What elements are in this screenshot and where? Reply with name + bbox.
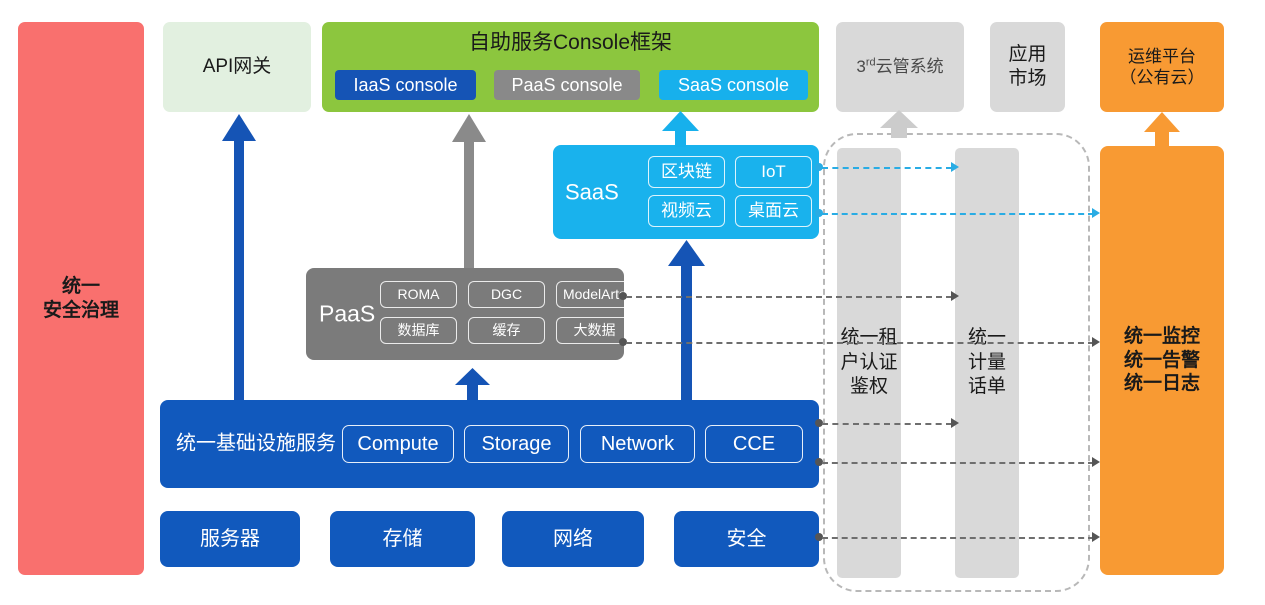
saas-layer-box[interactable]: SaaS 区块链 IoT 视频云 桌面云 — [553, 145, 819, 239]
arrow-iaas-to-saas — [668, 240, 705, 400]
saas-item-blockchain[interactable]: 区块链 — [648, 156, 725, 188]
tenant-auth-line-2: 户认证 — [840, 351, 897, 376]
arrow-iaas-to-api-gateway — [222, 114, 256, 400]
iaas-item-network[interactable]: Network — [580, 425, 695, 463]
ops-platform-line-1: 运维平台 — [1120, 46, 1205, 67]
paas-layer-box[interactable]: PaaS ROMA DGC ModelArts 数据库 缓存 大数据 — [306, 268, 624, 360]
paas-item-database[interactable]: 数据库 — [380, 317, 457, 344]
arrow-saas-to-saas-console — [662, 111, 699, 147]
ops-side-line-1: 统一监控 — [1124, 325, 1200, 349]
connector-arrowhead-paas-auth — [951, 291, 959, 301]
iaas-item-cce[interactable]: CCE — [705, 425, 803, 463]
hardware-network-box[interactable]: 网络 — [502, 511, 644, 567]
paas-console-chip[interactable]: PaaS console — [494, 70, 640, 100]
hardware-security-box[interactable]: 安全 — [674, 511, 819, 567]
app-market-line-1: 应用 — [1008, 43, 1046, 67]
ops-platform-public-cloud-box[interactable]: 运维平台 （公有云） — [1100, 22, 1224, 112]
ops-platform-line-2: （公有云） — [1120, 67, 1205, 88]
security-line-1: 统一 — [43, 275, 119, 299]
metering-line-2: 计量 — [968, 351, 1006, 376]
connector-iaas-to-ops — [822, 462, 1094, 464]
tenant-auth-line-1: 统一租 — [840, 326, 897, 351]
tenant-auth-line-3: 鉴权 — [840, 375, 897, 400]
connector-paas-to-ops — [626, 342, 1094, 344]
paas-label: PaaS — [319, 300, 375, 329]
metering-line-1: 统一 — [968, 326, 1006, 351]
api-gateway-box[interactable]: API网关 — [163, 22, 311, 112]
app-market-box[interactable]: 应用 市场 — [990, 22, 1065, 112]
connector-saas-to-metering — [822, 167, 952, 169]
hardware-server-box[interactable]: 服务器 — [160, 511, 300, 567]
connector-arrowhead-iaas-ops — [1092, 457, 1100, 467]
connector-saas-to-ops — [822, 213, 1094, 215]
hardware-storage-box[interactable]: 存储 — [330, 511, 475, 567]
paas-item-roma[interactable]: ROMA — [380, 281, 457, 308]
third-cloud-label: 3rd云管系统 — [856, 56, 943, 77]
unified-security-governance-panel[interactable]: 统一 安全治理 — [18, 22, 144, 575]
connector-arrowhead-hardware-ops — [1092, 532, 1100, 542]
api-gateway-label: API网关 — [203, 55, 272, 79]
connector-arrowhead-iaas-auth — [951, 418, 959, 428]
saas-console-chip[interactable]: SaaS console — [659, 70, 808, 100]
paas-item-dgc[interactable]: DGC — [468, 281, 545, 308]
connector-paas-to-auth — [626, 296, 952, 298]
self-service-console-framework[interactable]: 自助服务Console框架 IaaS console PaaS console … — [322, 22, 819, 112]
saas-item-video-cloud[interactable]: 视频云 — [648, 195, 725, 227]
connector-arrowhead-saas-ops — [1092, 208, 1100, 218]
ops-side-line-2: 统一告警 — [1124, 349, 1200, 373]
unified-monitoring-panel[interactable]: 统一监控 统一告警 统一日志 — [1100, 146, 1224, 575]
arrow-paas-to-console — [452, 114, 486, 268]
console-framework-title: 自助服务Console框架 — [322, 30, 819, 56]
connector-arrowhead-saas-metering — [951, 162, 959, 172]
arrow-ops-panel-to-ops-platform — [1144, 112, 1180, 146]
iaas-console-chip[interactable]: IaaS console — [335, 70, 476, 100]
arrow-iaas-to-paas — [455, 368, 490, 400]
ops-side-line-3: 统一日志 — [1124, 372, 1200, 396]
saas-label: SaaS — [565, 178, 619, 206]
paas-item-cache[interactable]: 缓存 — [468, 317, 545, 344]
connector-hardware-to-ops — [822, 537, 1094, 539]
iaas-label: 统一基础设施服务 — [176, 432, 336, 457]
connector-arrowhead-paas-ops — [1092, 337, 1100, 347]
iaas-item-storage[interactable]: Storage — [464, 425, 569, 463]
architecture-diagram: 统一 安全治理 API网关 自助服务Console框架 IaaS console… — [0, 0, 1265, 605]
iaas-item-compute[interactable]: Compute — [342, 425, 454, 463]
security-line-2: 安全治理 — [43, 299, 119, 323]
app-market-line-2: 市场 — [1008, 67, 1046, 91]
third-party-cloud-management-box[interactable]: 3rd云管系统 — [836, 22, 964, 112]
saas-item-desktop-cloud[interactable]: 桌面云 — [735, 195, 812, 227]
metering-line-3: 话单 — [968, 375, 1006, 400]
connector-iaas-to-auth — [822, 423, 952, 425]
saas-item-iot[interactable]: IoT — [735, 156, 812, 188]
unified-infrastructure-service-bar[interactable]: 统一基础设施服务 Compute Storage Network CCE — [160, 400, 819, 488]
